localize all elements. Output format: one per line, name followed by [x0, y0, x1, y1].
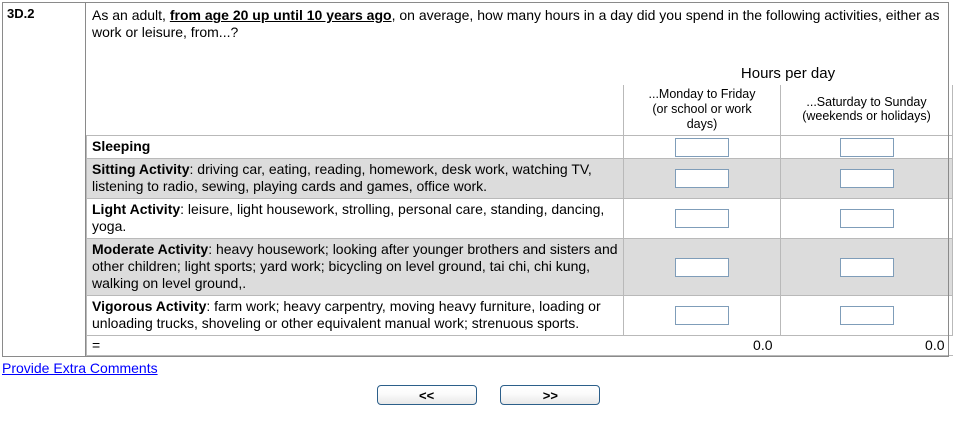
stem-emphasis: from age 20 up until 10 years ago — [170, 7, 392, 23]
activity-name-sitting: Sitting Activity — [92, 161, 190, 177]
input-cell-sleeping-weekday — [624, 136, 781, 159]
provide-extra-comments-link[interactable]: Provide Extra Comments — [2, 360, 158, 376]
total-weekday: 0.0 — [624, 335, 781, 355]
hours-input-light-weekend[interactable] — [840, 209, 894, 228]
grid-column-header-row: ...Monday to Friday (or school or work d… — [87, 85, 953, 136]
activity-name-vigorous: Vigorous Activity — [92, 298, 206, 314]
totals-row: = 0.0 0.0 — [87, 335, 953, 355]
input-cell-vigorous-weekend — [781, 295, 953, 335]
activity-label-sleeping: Sleeping — [87, 136, 624, 159]
table-row: Moderate Activity: heavy housework; look… — [87, 239, 953, 296]
grid-header-spacer — [87, 63, 624, 85]
activity-label-vigorous: Vigorous Activity: farm work; heavy carp… — [87, 295, 624, 335]
activity-name-moderate: Moderate Activity — [92, 241, 208, 257]
activity-label-light: Light Activity: leisure, light housework… — [87, 199, 624, 239]
column-header-weekday-line1: ...Monday to Friday — [628, 87, 776, 102]
hours-input-moderate-weekend[interactable] — [840, 258, 894, 277]
table-row: Light Activity: leisure, light housework… — [87, 199, 953, 239]
previous-page-button[interactable]: << — [377, 385, 477, 405]
next-page-button[interactable]: >> — [500, 385, 600, 405]
hours-input-vigorous-weekday[interactable] — [675, 306, 729, 325]
hours-input-sitting-weekend[interactable] — [840, 169, 894, 188]
grid-column-header-spacer — [87, 85, 624, 136]
hours-input-light-weekday[interactable] — [675, 209, 729, 228]
question-frame: 3D.2 As an adult, from age 20 up until 1… — [2, 2, 949, 357]
hours-input-sitting-weekday[interactable] — [675, 169, 729, 188]
column-header-weekday-line3: days) — [628, 117, 776, 132]
input-cell-sitting-weekend — [781, 159, 953, 199]
column-header-weekday-line2: (or school or work — [628, 102, 776, 117]
activity-grid: Hours per day ...Monday to Friday (or sc… — [86, 63, 953, 356]
activity-label-moderate: Moderate Activity: heavy housework; look… — [87, 239, 624, 296]
hours-input-sleeping-weekday[interactable] — [675, 138, 729, 157]
question-number: 3D.2 — [3, 3, 86, 357]
input-cell-sleeping-weekend — [781, 136, 953, 159]
input-cell-moderate-weekend — [781, 239, 953, 296]
question-body: As an adult, from age 20 up until 10 yea… — [86, 3, 949, 357]
totals-equals-label: = — [87, 335, 624, 355]
hours-per-day-header: Hours per day — [624, 63, 953, 85]
navigation-bar: << >> — [0, 385, 955, 405]
column-header-weekend-line1: ...Saturday to Sunday — [785, 95, 948, 110]
hours-input-vigorous-weekend[interactable] — [840, 306, 894, 325]
table-row: Sitting Activity: driving car, eating, r… — [87, 159, 953, 199]
hours-input-sleeping-weekend[interactable] — [840, 138, 894, 157]
input-cell-moderate-weekday — [624, 239, 781, 296]
activity-label-sitting: Sitting Activity: driving car, eating, r… — [87, 159, 624, 199]
input-cell-vigorous-weekday — [624, 295, 781, 335]
input-cell-sitting-weekday — [624, 159, 781, 199]
table-row: Vigorous Activity: farm work; heavy carp… — [87, 295, 953, 335]
column-header-weekend: ...Saturday to Sunday (weekends or holid… — [781, 85, 953, 136]
input-cell-light-weekday — [624, 199, 781, 239]
activity-name-light: Light Activity — [92, 201, 180, 217]
question-stem: As an adult, from age 20 up until 10 yea… — [86, 3, 948, 43]
table-row: Sleeping — [87, 136, 953, 159]
stem-text-before: As an adult, — [92, 7, 170, 23]
hours-input-moderate-weekday[interactable] — [675, 258, 729, 277]
column-header-weekday: ...Monday to Friday (or school or work d… — [624, 85, 781, 136]
activity-name-sleeping: Sleeping — [92, 138, 150, 154]
grid-group-header-row: Hours per day — [87, 63, 953, 85]
input-cell-light-weekend — [781, 199, 953, 239]
total-weekend: 0.0 — [781, 335, 953, 355]
column-header-weekend-line2: (weekends or holidays) — [785, 109, 948, 124]
